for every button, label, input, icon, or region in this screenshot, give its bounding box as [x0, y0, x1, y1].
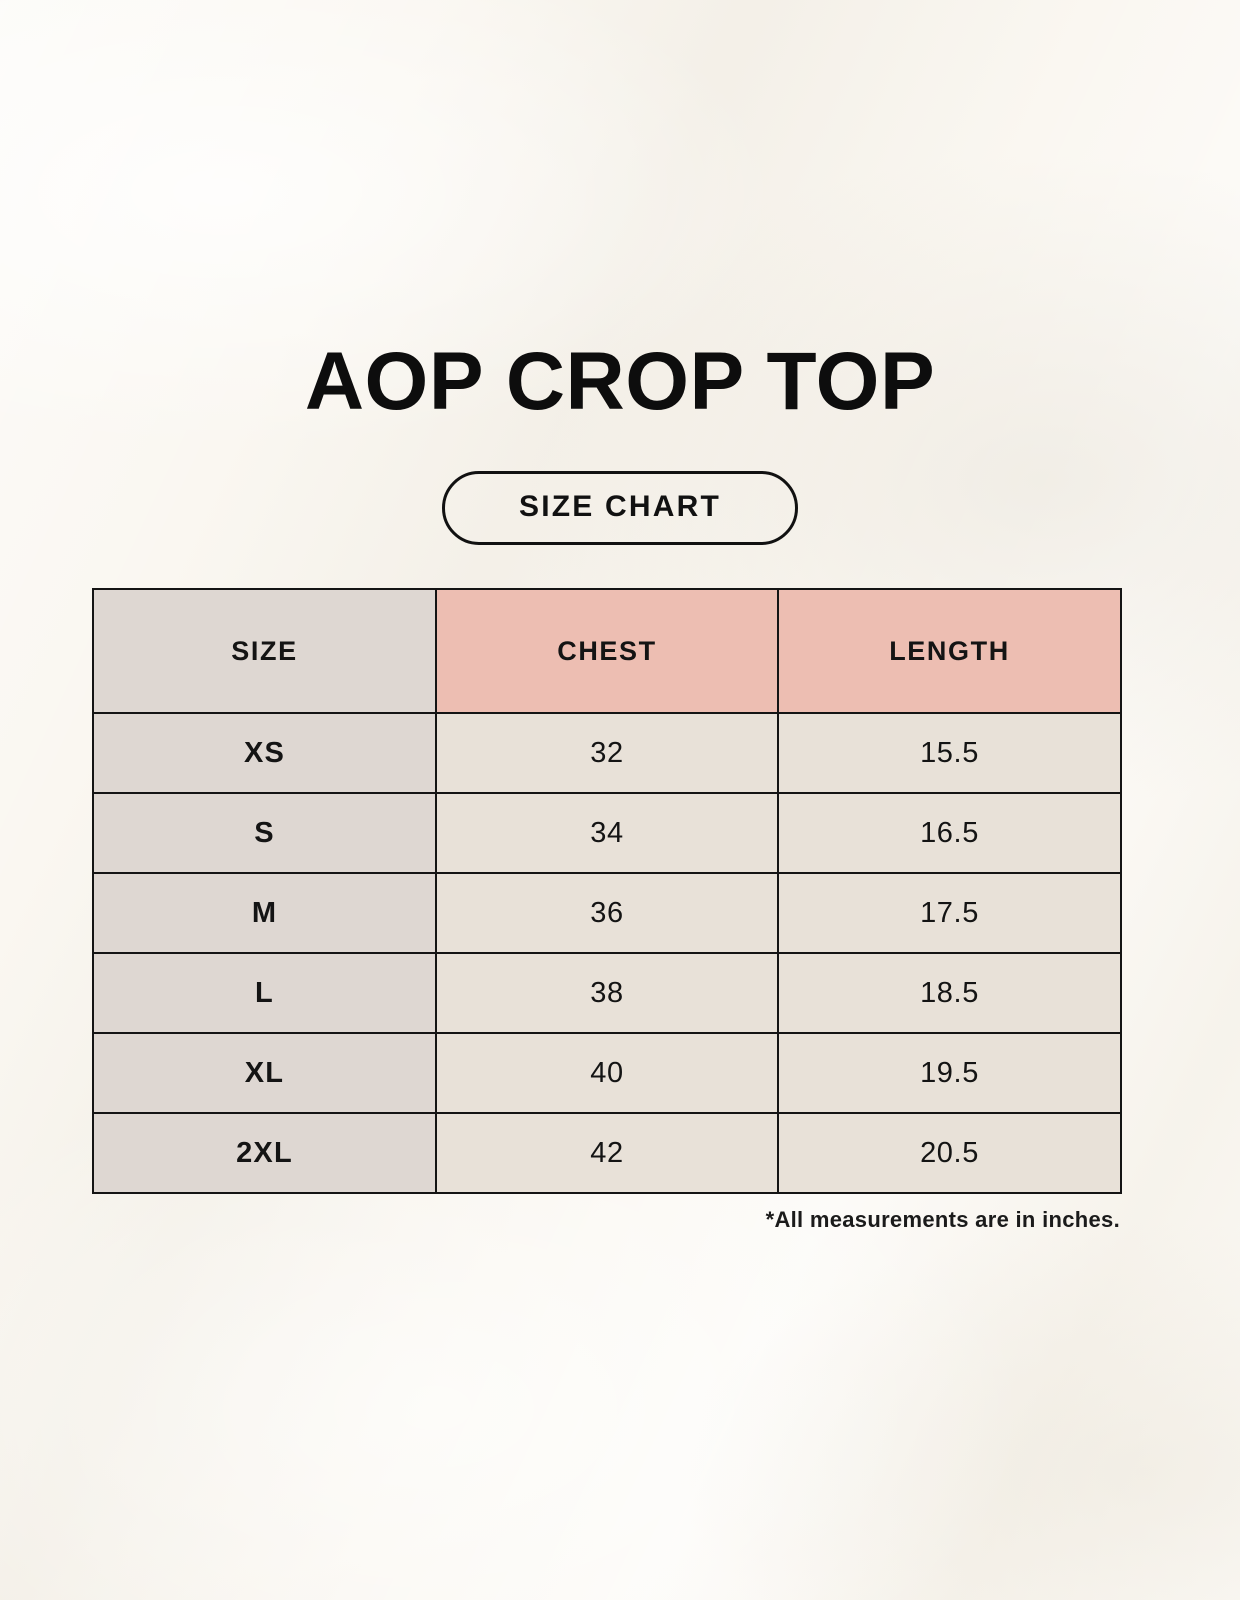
cell-length: 18.5 [778, 953, 1121, 1033]
size-chart-page: AOP CROP TOP SIZE CHART SIZE CHEST LENGT… [0, 0, 1240, 1600]
table-row: XS 32 15.5 [93, 713, 1121, 793]
cell-size: M [93, 873, 436, 953]
cell-chest: 40 [436, 1033, 778, 1113]
cell-chest: 36 [436, 873, 778, 953]
cell-length: 15.5 [778, 713, 1121, 793]
cell-chest: 42 [436, 1113, 778, 1193]
cell-size: L [93, 953, 436, 1033]
cell-length: 19.5 [778, 1033, 1121, 1113]
size-chart-badge: SIZE CHART [442, 471, 798, 545]
table-header-row: SIZE CHEST LENGTH [93, 589, 1121, 713]
cell-size: XL [93, 1033, 436, 1113]
cell-chest: 38 [436, 953, 778, 1033]
table-row: XL 40 19.5 [93, 1033, 1121, 1113]
page-title: AOP CROP TOP [0, 334, 1240, 430]
table-header: SIZE CHEST LENGTH [93, 589, 1121, 713]
table-row: S 34 16.5 [93, 793, 1121, 873]
cell-chest: 32 [436, 713, 778, 793]
cell-size: 2XL [93, 1113, 436, 1193]
measurement-units-note: *All measurements are in inches. [92, 1205, 1120, 1235]
column-header-chest: CHEST [436, 589, 778, 713]
cell-chest: 34 [436, 793, 778, 873]
cell-size: XS [93, 713, 436, 793]
table-row: M 36 17.5 [93, 873, 1121, 953]
size-chart-table: SIZE CHEST LENGTH XS 32 15.5 S 34 16.5 M… [92, 588, 1122, 1194]
cell-length: 16.5 [778, 793, 1121, 873]
table-row: L 38 18.5 [93, 953, 1121, 1033]
column-header-length: LENGTH [778, 589, 1121, 713]
column-header-size: SIZE [93, 589, 436, 713]
table-body: XS 32 15.5 S 34 16.5 M 36 17.5 L 38 18.5… [93, 713, 1121, 1193]
cell-length: 20.5 [778, 1113, 1121, 1193]
cell-size: S [93, 793, 436, 873]
table-row: 2XL 42 20.5 [93, 1113, 1121, 1193]
cell-length: 17.5 [778, 873, 1121, 953]
badge-container: SIZE CHART [0, 471, 1240, 545]
